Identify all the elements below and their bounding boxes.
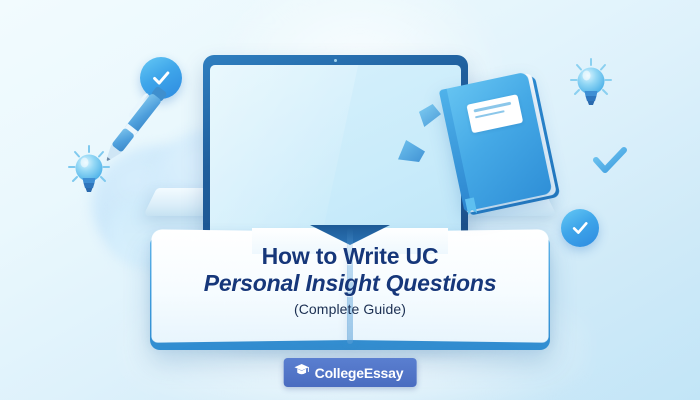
graduation-cap-icon	[294, 363, 310, 382]
notebook-label	[466, 94, 523, 133]
lightbulb-icon	[66, 143, 112, 195]
notebook-label-line	[473, 102, 511, 112]
page-title: How to Write UC Personal Insight Questio…	[0, 243, 700, 317]
laptop-camera-icon	[334, 59, 337, 62]
title-subtitle: (Complete Guide)	[0, 301, 700, 317]
check-mark-icon	[593, 146, 627, 176]
banner-hero: How to Write UC Personal Insight Questio…	[0, 0, 700, 400]
collegeessay-logo[interactable]: CollegeEssay	[284, 358, 417, 387]
notebook-label-line	[475, 110, 505, 119]
check-circle-icon	[561, 209, 599, 247]
title-line-2: Personal Insight Questions	[0, 270, 700, 297]
laptop-illustration	[203, 55, 468, 245]
screen-sheen	[210, 65, 364, 238]
title-line-1: How to Write UC	[0, 243, 700, 270]
logo-text: CollegeEssay	[315, 365, 404, 381]
lightbulb-icon	[568, 56, 614, 108]
